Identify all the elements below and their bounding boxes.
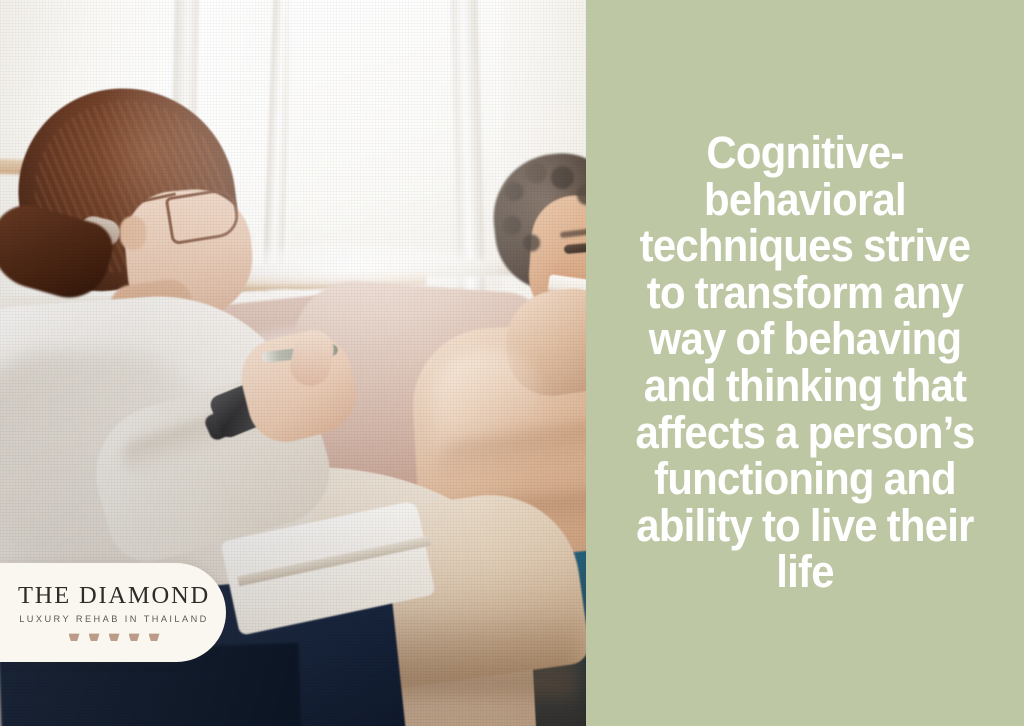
diamond-icon [129, 632, 140, 641]
diamond-icon [149, 632, 160, 641]
therapist-ear [120, 216, 146, 250]
curtain-highlight [236, 244, 506, 286]
brand-tagline: LUXURY REHAB IN THAILAND [17, 615, 209, 624]
quote-card: THE DIAMOND LUXURY REHAB IN THAILAND Cog… [0, 0, 1024, 726]
diamond-icon [69, 632, 80, 641]
diamond-icon [89, 632, 100, 641]
brand-wordmark: THE DIAMOND [16, 584, 210, 609]
photo-pane: THE DIAMOND LUXURY REHAB IN THAILAND [0, 0, 586, 726]
diamond-icon-row [67, 632, 160, 641]
diamond-icon [109, 632, 120, 641]
quote-headline: Cognitive-behavioral techniques strive t… [601, 130, 1008, 596]
logo-badge[interactable]: THE DIAMOND LUXURY REHAB IN THAILAND [0, 563, 226, 662]
quote-pane: Cognitive-behavioral techniques strive t… [586, 0, 1024, 726]
